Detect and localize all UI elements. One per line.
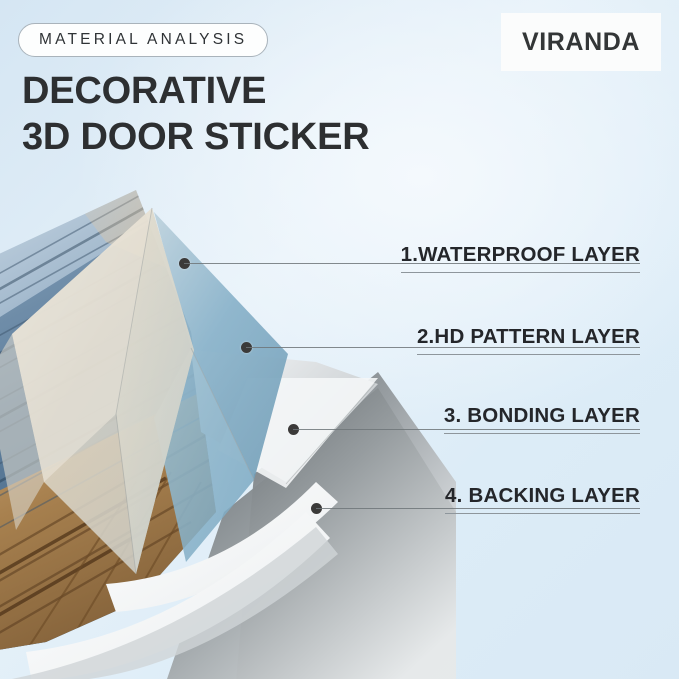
layer-label-1: 1.WATERPROOF LAYER <box>401 243 640 273</box>
page-title: DECORATIVE 3D DOOR STICKER <box>22 68 369 160</box>
layer-label-4: 4. BACKING LAYER <box>445 484 640 514</box>
brand-name: VIRANDA <box>522 28 640 57</box>
infographic-canvas: MATERIAL ANALYSIS DECORATIVE 3D DOOR STI… <box>0 0 679 679</box>
layer-label-2: 2.HD PATTERN LAYER <box>417 325 640 355</box>
material-analysis-badge: MATERIAL ANALYSIS <box>18 23 268 57</box>
title-line-2: 3D DOOR STICKER <box>22 114 369 160</box>
leader-line-1 <box>184 263 640 264</box>
leader-line-3 <box>293 429 640 430</box>
brand-logo: VIRANDA <box>501 13 661 71</box>
leader-line-4 <box>316 508 640 509</box>
title-line-1: DECORATIVE <box>22 68 369 114</box>
leader-line-2 <box>246 347 640 348</box>
sticker-layers-illustration <box>0 182 456 679</box>
